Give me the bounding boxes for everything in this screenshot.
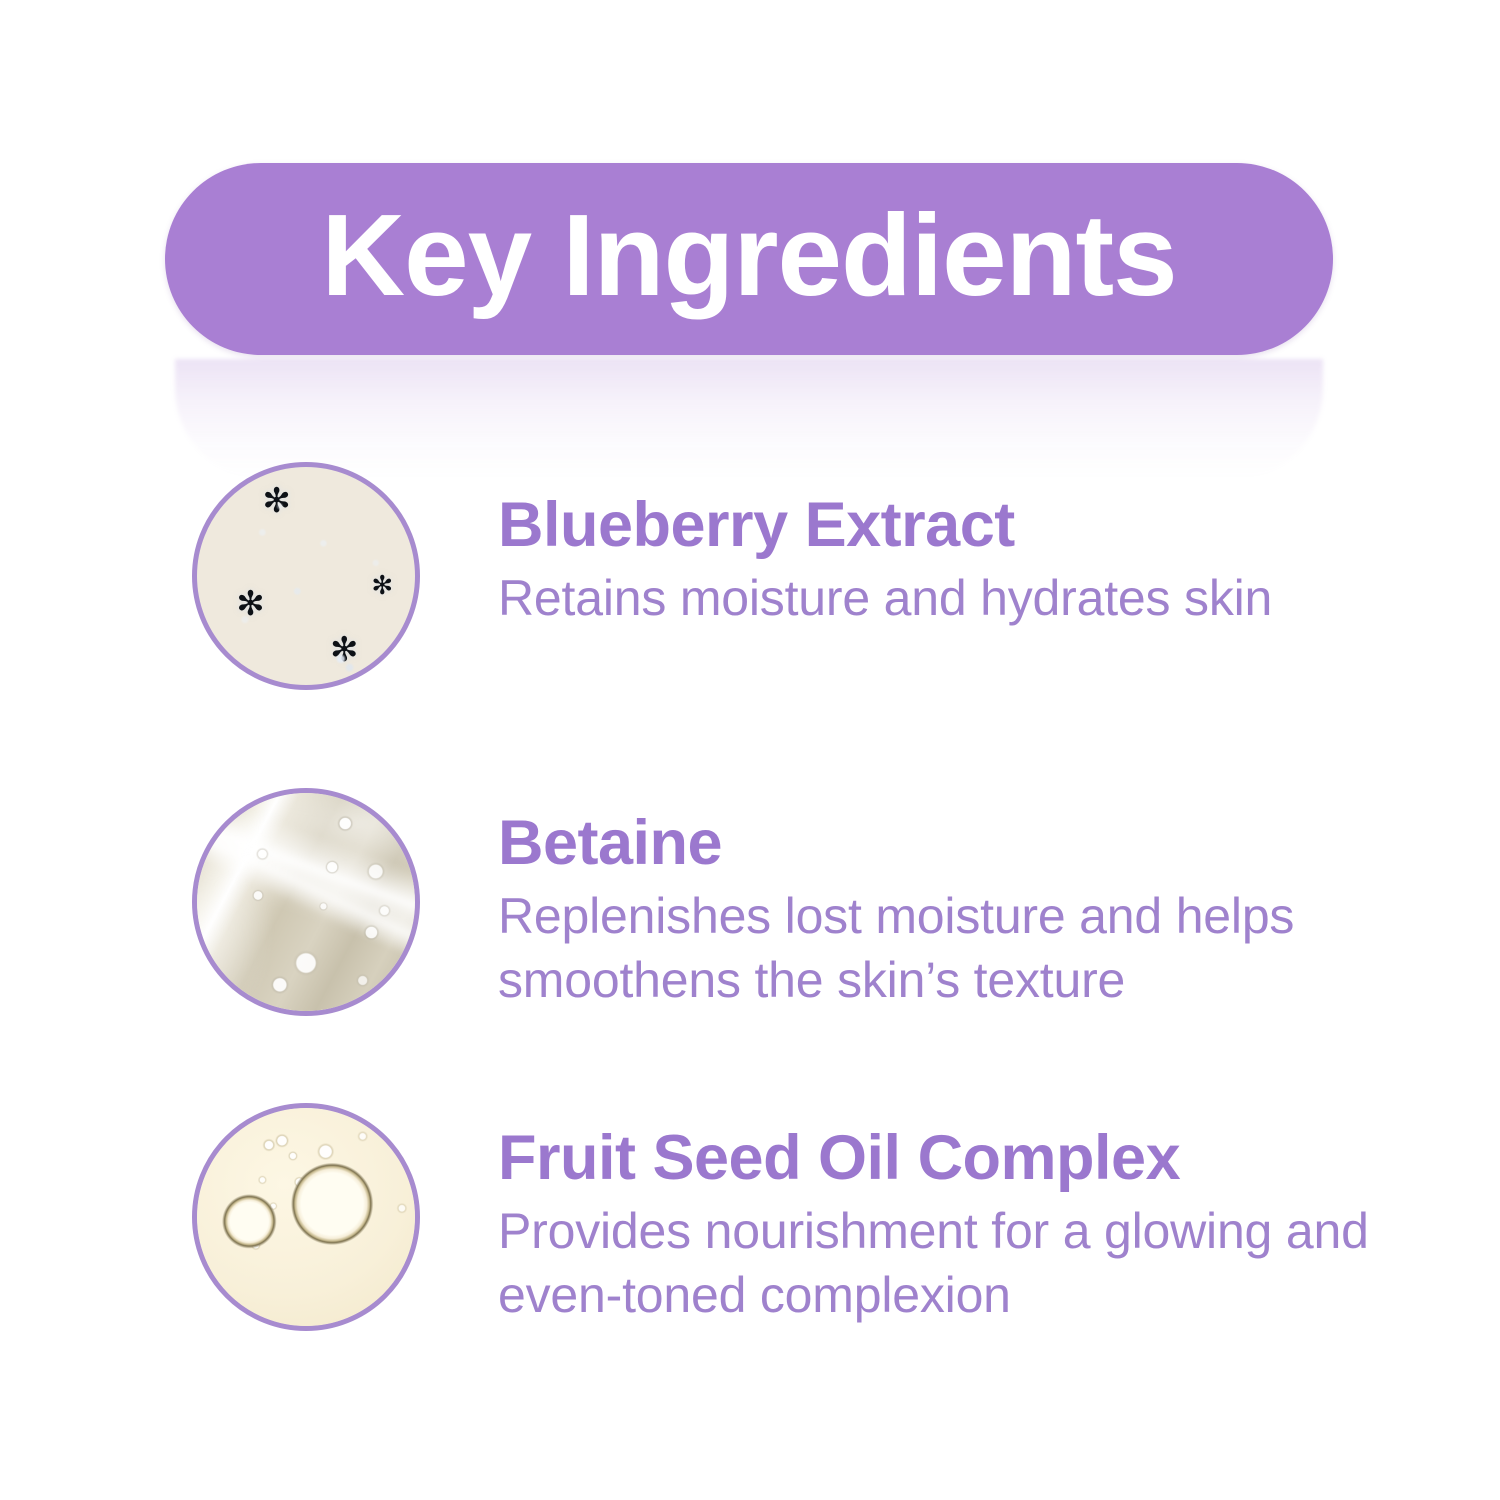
blueberry-calyx-icon: ✻ xyxy=(330,633,359,667)
ingredient-text-block: Blueberry Extract Retains moisture and h… xyxy=(498,462,1272,630)
gel-texture-photo xyxy=(192,788,420,1016)
oil-droplets-photo xyxy=(192,1103,420,1331)
ingredient-description: Provides nourishment for a glowing and e… xyxy=(498,1199,1442,1327)
ingredient-list: ✻ ✻ ✻ ✻ Blueberry Extract Retains moistu… xyxy=(0,0,1500,1500)
blueberry-calyx-icon: ✻ xyxy=(236,587,265,621)
ingredient-name: Fruit Seed Oil Complex xyxy=(498,1125,1442,1191)
ingredient-description: Replenishes lost moisture and helps smoo… xyxy=(498,884,1442,1012)
ingredient-name: Betaine xyxy=(498,810,1442,876)
blueberry-calyx-icon: ✻ xyxy=(371,572,393,598)
gel-texture-artwork xyxy=(197,793,415,1011)
ingredient-description: Retains moisture and hydrates skin xyxy=(498,566,1272,630)
blueberries-artwork: ✻ ✻ ✻ ✻ xyxy=(197,467,415,685)
blueberry-calyx-icon: ✻ xyxy=(262,484,291,518)
ingredient-name: Blueberry Extract xyxy=(498,492,1272,558)
ingredient-row-blueberry-extract: ✻ ✻ ✻ ✻ Blueberry Extract Retains moistu… xyxy=(192,462,1442,690)
blueberries-photo: ✻ ✻ ✻ ✻ xyxy=(192,462,420,690)
oil-droplets-artwork xyxy=(197,1108,415,1326)
ingredient-row-betaine: Betaine Replenishes lost moisture and he… xyxy=(192,788,1442,1016)
ingredient-row-fruit-seed-oil-complex: Fruit Seed Oil Complex Provides nourishm… xyxy=(192,1103,1442,1331)
ingredient-text-block: Betaine Replenishes lost moisture and he… xyxy=(498,788,1442,1012)
ingredient-text-block: Fruit Seed Oil Complex Provides nourishm… xyxy=(498,1103,1442,1327)
